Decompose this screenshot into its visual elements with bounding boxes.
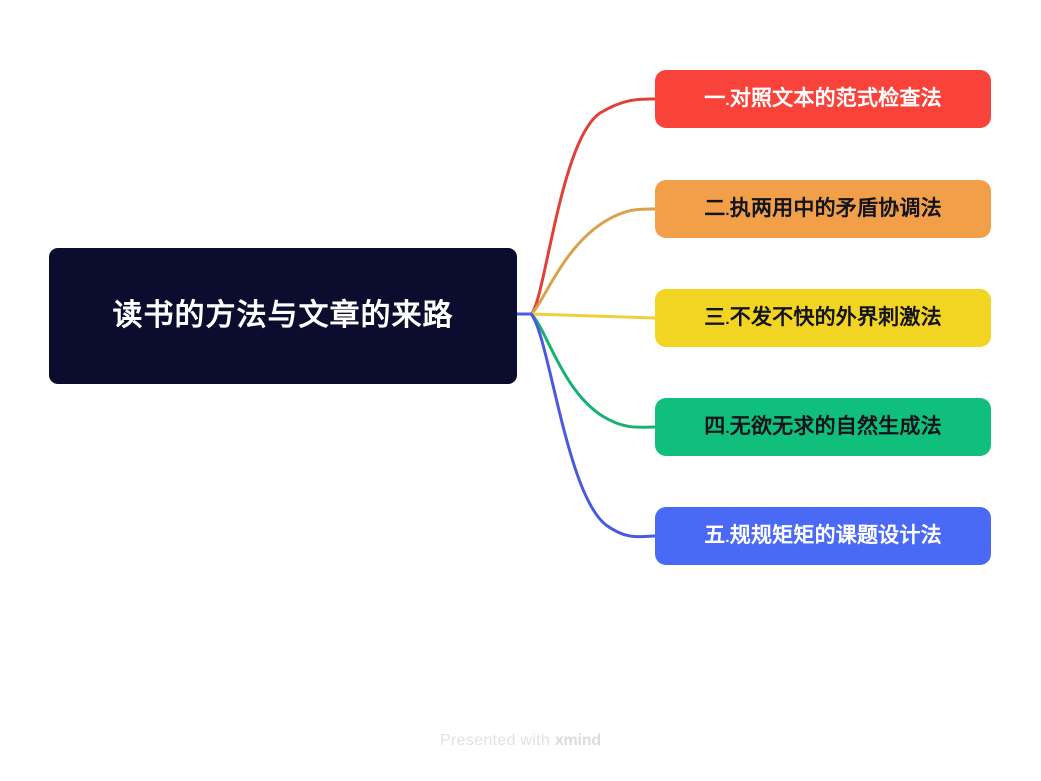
branch-node-2[interactable]: 二.执两用中的矛盾协调法 bbox=[655, 180, 991, 238]
branch-node-3-label: 三.不发不快的外界刺激法 bbox=[704, 306, 942, 329]
branch-node-1[interactable]: 一.对照文本的范式检查法 bbox=[655, 70, 991, 128]
branch-node-4-index: 四 bbox=[704, 415, 725, 438]
branch-node-2-text: 执两用中的矛盾协调法 bbox=[730, 197, 942, 220]
branch-node-1-index: 一 bbox=[704, 87, 725, 110]
central-topic-label: 读书的方法与文章的来路 bbox=[79, 295, 488, 338]
connector-branch-1 bbox=[531, 99, 655, 314]
branch-node-3[interactable]: 三.不发不快的外界刺激法 bbox=[655, 289, 991, 347]
branch-node-5-label: 五.规规矩矩的课题设计法 bbox=[704, 524, 942, 547]
branch-node-4-label: 四.无欲无求的自然生成法 bbox=[704, 415, 942, 438]
footer-attribution: Presented with xmind bbox=[0, 732, 1041, 750]
branch-node-4-text: 无欲无求的自然生成法 bbox=[730, 415, 942, 438]
connector-branch-5 bbox=[531, 314, 655, 537]
mindmap-canvas: 读书的方法与文章的来路 一.对照文本的范式检查法 二.执两用中的矛盾协调法 三.… bbox=[0, 0, 1041, 781]
branch-node-3-index: 三 bbox=[704, 306, 725, 329]
footer-brand-xmind: xmind bbox=[555, 732, 601, 749]
branch-node-5-text: 规规矩矩的课题设计法 bbox=[730, 524, 942, 547]
branch-node-1-text: 对照文本的范式检查法 bbox=[730, 87, 942, 110]
branch-node-2-index: 二 bbox=[704, 197, 725, 220]
branch-node-4[interactable]: 四.无欲无求的自然生成法 bbox=[655, 398, 991, 456]
footer-prefix: Presented with bbox=[440, 732, 555, 749]
branch-node-3-text: 不发不快的外界刺激法 bbox=[730, 306, 942, 329]
central-topic-node[interactable]: 读书的方法与文章的来路 bbox=[49, 248, 517, 384]
connector-branch-3 bbox=[531, 314, 655, 318]
branch-node-2-label: 二.执两用中的矛盾协调法 bbox=[704, 197, 942, 220]
connector-branch-4 bbox=[531, 314, 655, 427]
branch-node-5[interactable]: 五.规规矩矩的课题设计法 bbox=[655, 507, 991, 565]
connector-branch-2 bbox=[531, 209, 655, 314]
branch-node-1-label: 一.对照文本的范式检查法 bbox=[704, 87, 942, 110]
branch-node-5-index: 五 bbox=[704, 524, 725, 547]
